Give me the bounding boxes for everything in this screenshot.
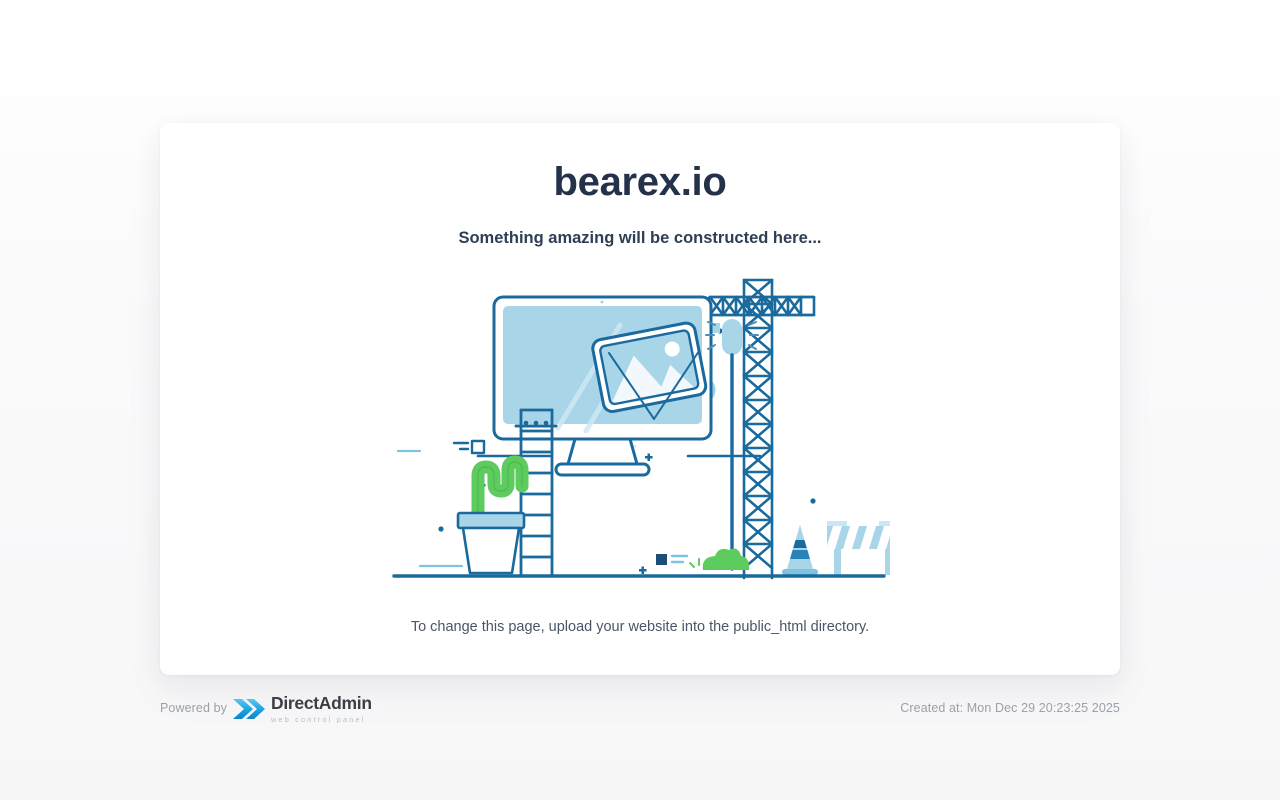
cactus-plant: [458, 462, 524, 573]
page-title: bearex.io: [160, 160, 1120, 205]
double-chevron-icon: [232, 696, 266, 722]
directadmin-logo[interactable]: DirectAdmin web control panel: [232, 692, 382, 726]
under-construction-illustration: [390, 273, 890, 603]
detail-square-right: [656, 554, 687, 565]
created-at-text: Created at: Mon Dec 29 20:23:25 2025: [900, 701, 1120, 715]
road-barrier: [826, 521, 890, 575]
page-root: bearex.io Something amazing will be cons…: [0, 0, 1280, 800]
traffic-cone: [782, 525, 818, 575]
directadmin-tagline: web control panel: [271, 716, 372, 723]
powered-by-label: Powered by: [160, 701, 227, 715]
page-subtitle: Something amazing will be constructed he…: [160, 229, 1120, 248]
decor-lines-light: [398, 451, 462, 566]
detail-square-left: [454, 441, 484, 453]
directadmin-name: DirectAdmin: [271, 695, 372, 713]
bush: [690, 548, 749, 570]
page-footer: Powered by DirectAdmin w: [160, 690, 1120, 730]
construction-card: bearex.io Something amazing will be cons…: [160, 123, 1120, 675]
upload-hint: To change this page, upload your website…: [160, 619, 1120, 635]
